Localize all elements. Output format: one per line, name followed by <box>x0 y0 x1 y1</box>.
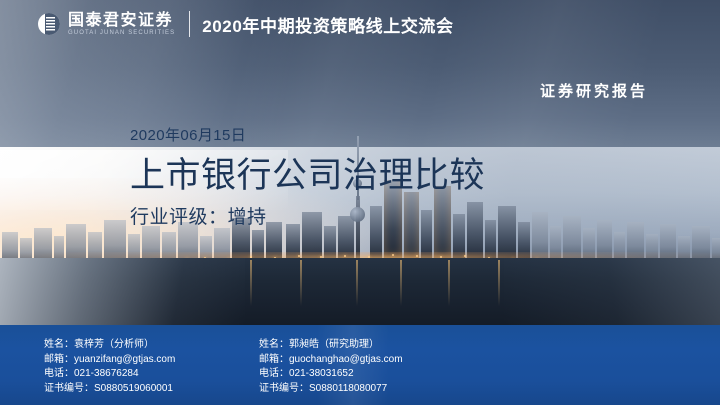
brand-name-cn: 国泰君安证券 <box>68 12 175 29</box>
contact-list: 姓名：袁梓芳（分析师） 邮箱：yuanzifang@gtjas.com 电话：0… <box>44 338 474 396</box>
title-block: 2020年06月15日 上市银行公司治理比较 行业评级：增持 <box>130 126 485 231</box>
contact-email[interactable]: 邮箱：guochanghao@gtjas.com <box>259 353 474 368</box>
slide-header: 国泰君安证券 GUOTAI JUNAN SECURITIES 2020年中期投资… <box>0 0 720 48</box>
presentation-slide: 国泰君安证券 GUOTAI JUNAN SECURITIES 2020年中期投资… <box>0 0 720 405</box>
header-divider <box>189 11 190 37</box>
industry-rating: 行业评级：增持 <box>130 205 485 231</box>
water-right-glow <box>504 258 720 325</box>
contact-license: 证书编号：S0880519060001 <box>44 382 259 397</box>
brand-logo-text: 国泰君安证券 GUOTAI JUNAN SECURITIES <box>68 12 175 37</box>
brand-name-en: GUOTAI JUNAN SECURITIES <box>68 29 175 37</box>
contact-name: 姓名：袁梓芳（分析师） <box>44 338 259 353</box>
gtja-circle-logo-icon <box>38 13 60 35</box>
contact-research-assistant: 姓名：郭昶皓（研究助理） 邮箱：guochanghao@gtjas.com 电话… <box>259 338 474 396</box>
publish-date: 2020年06月15日 <box>130 126 485 146</box>
contact-license: 证书编号：S0880118080077 <box>259 382 474 397</box>
report-title: 上市银行公司治理比较 <box>130 152 485 200</box>
contact-email[interactable]: 邮箱：yuanzifang@gtjas.com <box>44 353 259 368</box>
brand-logo: 国泰君安证券 GUOTAI JUNAN SECURITIES <box>38 12 175 37</box>
report-type-label: 证券研究报告 <box>540 80 648 101</box>
water-left-glow <box>0 258 245 325</box>
event-title: 2020年中期投资策略线上交流会 <box>202 12 453 37</box>
slide-footer: 姓名：袁梓芳（分析师） 邮箱：yuanzifang@gtjas.com 电话：0… <box>0 325 720 405</box>
contact-phone: 电话：021-38676284 <box>44 367 259 382</box>
contact-phone: 电话：021-38031652 <box>259 367 474 382</box>
contact-name: 姓名：郭昶皓（研究助理） <box>259 338 474 353</box>
contact-analyst: 姓名：袁梓芳（分析师） 邮箱：yuanzifang@gtjas.com 电话：0… <box>44 338 259 396</box>
